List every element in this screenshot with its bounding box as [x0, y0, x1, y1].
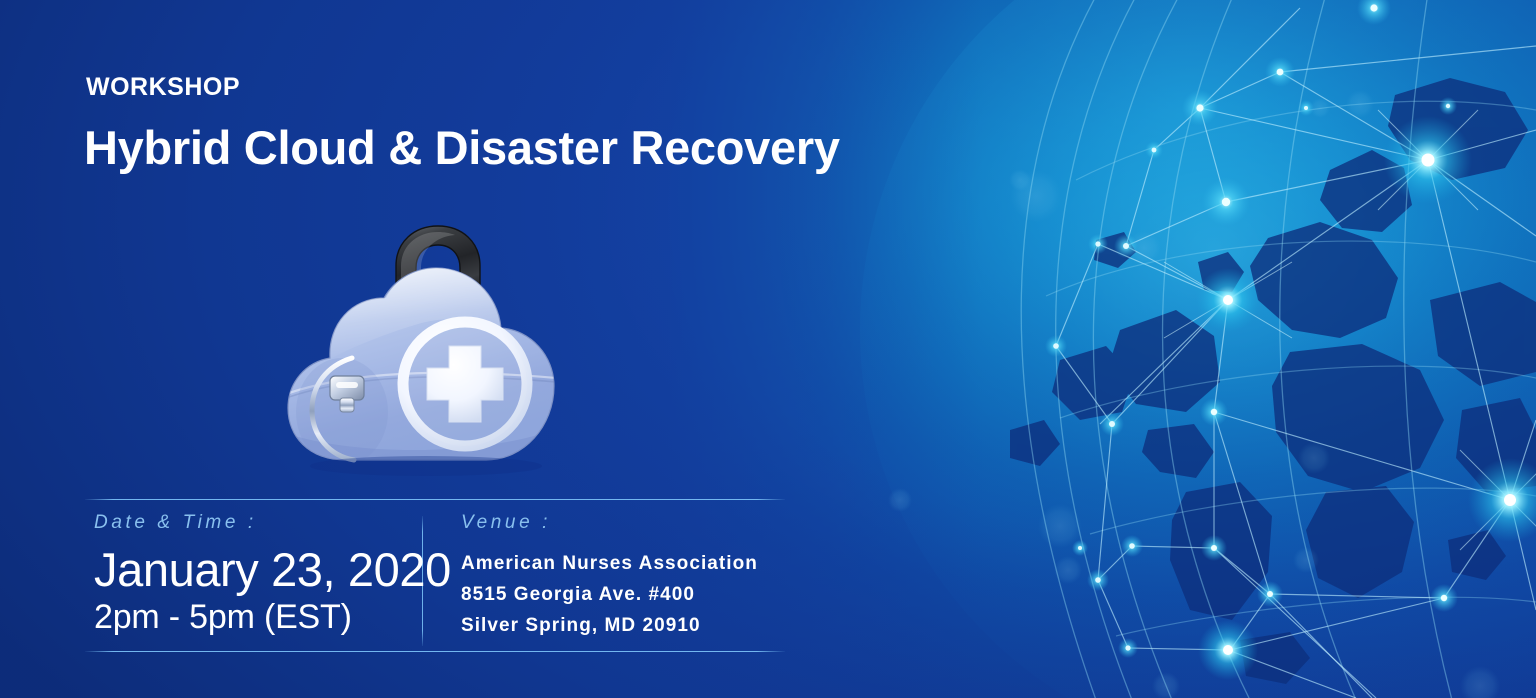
venue-label: Venue :: [461, 512, 758, 535]
date-time-label: Date & Time :: [94, 512, 451, 535]
divider-bottom: [85, 651, 785, 652]
venue-line: 8515 Georgia Ave. #400: [461, 579, 758, 610]
venue-block: Venue : American Nurses Association 8515…: [461, 512, 758, 641]
kicker-label: WORKSHOP: [86, 74, 240, 102]
venue-line: Silver Spring, MD 20910: [461, 610, 758, 641]
venue-address: American Nurses Association 8515 Georgia…: [461, 548, 758, 641]
event-date: January 23, 2020: [94, 546, 451, 593]
cloud-first-aid-kit-icon: [268, 198, 578, 494]
medical-cross-emblem: [403, 322, 527, 446]
divider-top: [85, 499, 785, 500]
venue-line: American Nurses Association: [461, 548, 758, 579]
event-time: 2pm - 5pm (EST): [94, 600, 451, 634]
page-title: Hybrid Cloud & Disaster Recovery: [84, 121, 840, 175]
cloud-first-aid-kit-svg: [268, 198, 578, 494]
banner-content: WORKSHOP Hybrid Cloud & Disaster Recover…: [0, 0, 860, 698]
workshop-banner: WORKSHOP Hybrid Cloud & Disaster Recover…: [0, 0, 1536, 698]
date-time-block: Date & Time : January 23, 2020 2pm - 5pm…: [94, 512, 451, 634]
